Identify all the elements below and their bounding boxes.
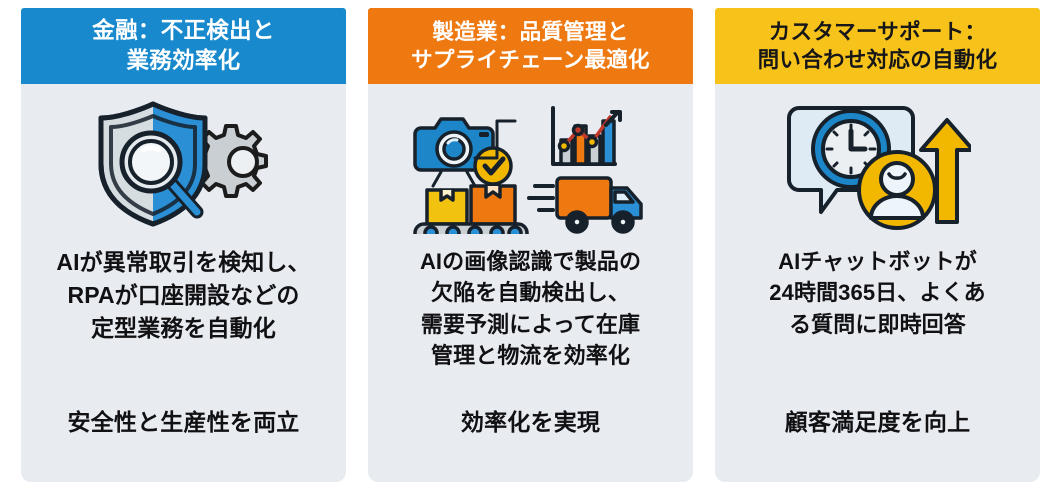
card-customer-support-header-line2: 問い合わせ対応の自動化 xyxy=(758,46,998,74)
card-finance: 金融：不正検出と 業務効率化 xyxy=(21,8,346,482)
check-badge-icon xyxy=(475,148,511,184)
boxes-on-conveyor-icon xyxy=(415,186,527,234)
card-finance-tagline: 安全性と生産性を両立 xyxy=(21,408,346,438)
three-card-infographic: 金融：不正検出と 業務効率化 xyxy=(0,0,1059,492)
card-customer-support-icon-area xyxy=(725,88,1030,240)
card-customer-support-header-line1: カスタマーサポート： xyxy=(769,18,987,46)
card-finance-header: 金融：不正検出と 業務効率化 xyxy=(21,8,346,84)
card-finance-icon-area xyxy=(31,88,336,240)
trend-chart-icon xyxy=(553,108,620,164)
shield-magnifier-gear-icon xyxy=(93,96,275,232)
card-manufacturing-header: 製造業：品質管理と サプライチェーン最適化 xyxy=(368,8,693,84)
card-customer-support-header: カスタマーサポート： 問い合わせ対応の自動化 xyxy=(715,8,1040,84)
delivery-truck-icon xyxy=(529,178,641,232)
card-manufacturing-body: AIの画像認識で製品の 欠陥を自動検出し、 需要予測によって在庫 管理と物流を効… xyxy=(368,84,693,482)
card-finance-description: AIが異常取引を検知し、 RPAが口座開設などの 定型業務を自動化 xyxy=(56,246,310,345)
card-customer-support-body: AIチャットボットが 24時間365日、よくあ る質問に即時回答 顧客満足度を向… xyxy=(715,84,1040,482)
chat-clock-user-arrow-icon xyxy=(785,94,971,234)
camera-conveyor-truck-chart-icon xyxy=(407,94,655,234)
card-finance-body: AIが異常取引を検知し、 RPAが口座開設などの 定型業務を自動化 安全性と生産… xyxy=(21,84,346,482)
card-manufacturing-icon-area xyxy=(378,88,683,240)
card-manufacturing-description: AIの画像認識で製品の 欠陥を自動検出し、 需要予測によって在庫 管理と物流を効… xyxy=(420,246,641,372)
card-manufacturing-header-line2: サプライチェーン最適化 xyxy=(411,46,650,74)
card-manufacturing: 製造業：品質管理と サプライチェーン最適化 xyxy=(368,8,693,482)
card-finance-header-line1: 金融：不正検出と xyxy=(92,16,274,46)
card-customer-support: カスタマーサポート： 問い合わせ対応の自動化 xyxy=(715,8,1040,482)
card-finance-header-line2: 業務効率化 xyxy=(126,46,240,76)
card-customer-support-tagline: 顧客満足度を向上 xyxy=(715,408,1040,438)
card-manufacturing-tagline: 効率化を実現 xyxy=(368,408,693,438)
card-manufacturing-header-line1: 製造業：品質管理と xyxy=(432,18,628,46)
card-customer-support-description: AIチャットボットが 24時間365日、よくあ る質問に即時回答 xyxy=(769,246,985,340)
